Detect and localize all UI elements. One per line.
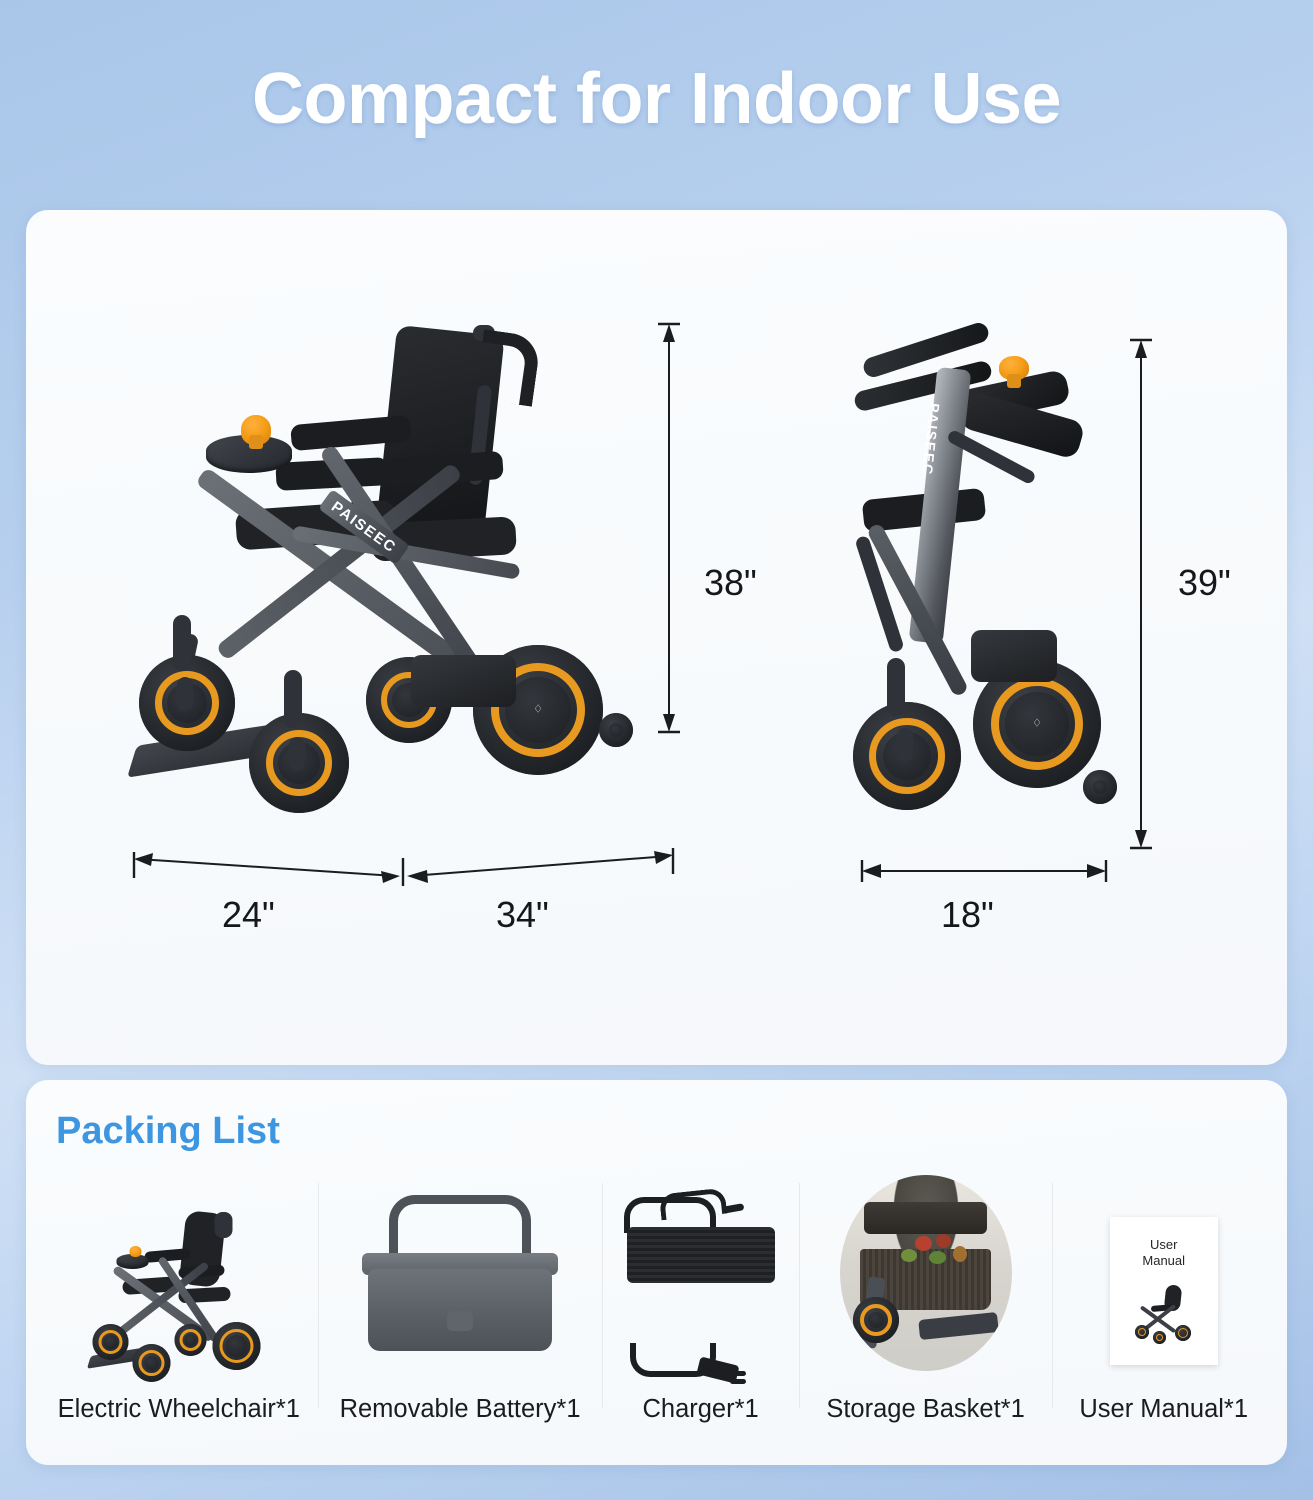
motor-housing [411, 655, 516, 707]
height-dimension-arrow-folded [1126, 338, 1156, 850]
packing-item-label: Charger*1 [642, 1395, 758, 1430]
folded-caster-fork [887, 658, 905, 716]
packing-item-wheelchair[interactable]: Electric Wheelchair*1 [40, 1175, 318, 1430]
width-dimension-label-folded: 18" [941, 894, 994, 936]
packing-item-battery[interactable]: Removable Battery*1 [318, 1175, 603, 1430]
length-dimension-label: 34" [496, 894, 549, 936]
packing-list-title: Packing List [56, 1110, 280, 1153]
height-dimension-label-folded: 39" [1178, 562, 1231, 604]
dimensions-card: PAISEEC [26, 210, 1287, 1065]
charger-icon [602, 1175, 798, 1395]
folded-caster-wheel [853, 702, 961, 810]
folded-joystick-stem [1007, 374, 1021, 388]
wheelchair-icon [40, 1175, 318, 1395]
unfolded-wheelchair-figure: PAISEEC [121, 315, 641, 845]
anti-tip-roller [599, 713, 633, 747]
manual-cover-line-2: Manual [1110, 1253, 1218, 1269]
width-dimension-arrow-folded [859, 858, 1109, 884]
caster-fork-right [284, 670, 302, 728]
manual-cover-illustration [1133, 1283, 1195, 1343]
packing-item-label: Electric Wheelchair*1 [58, 1395, 300, 1430]
caster-fork-left [173, 615, 191, 671]
page-title: Compact for Indoor Use [0, 58, 1313, 140]
folded-motor-housing [971, 630, 1057, 682]
folded-wheel-hub-logo: ♢ [1032, 719, 1042, 730]
height-dimension-arrow-unfolded [654, 322, 684, 734]
front-caster-right [249, 713, 349, 813]
manual-cover-line-1: User [1110, 1237, 1218, 1253]
depth-dimension-label: 24" [222, 894, 275, 936]
packing-item-label: Storage Basket*1 [826, 1395, 1024, 1430]
packing-item-label: User Manual*1 [1079, 1395, 1248, 1430]
folded-anti-tip-roller [1083, 770, 1117, 804]
manual-icon: User Manual [1052, 1175, 1275, 1395]
packing-item-charger[interactable]: Charger*1 [602, 1175, 798, 1430]
packing-list-row: Electric Wheelchair*1 Removable Battery*… [40, 1175, 1275, 1430]
height-dimension-label-unfolded: 38" [704, 562, 757, 604]
battery-icon [318, 1175, 603, 1395]
packing-item-label: Removable Battery*1 [340, 1395, 581, 1430]
joystick-stem [249, 435, 263, 449]
wheel-hub-logo: ♢ [533, 705, 543, 716]
brand-text-folded: PAISEEC [919, 403, 943, 477]
packing-item-basket[interactable]: Storage Basket*1 [799, 1175, 1053, 1430]
basket-icon [799, 1175, 1053, 1395]
folded-wheelchair-figure: PAISEEC ♢ [831, 330, 1131, 850]
depth-length-dimension-arrows [131, 848, 676, 888]
packing-item-manual[interactable]: User Manual [1052, 1175, 1275, 1430]
